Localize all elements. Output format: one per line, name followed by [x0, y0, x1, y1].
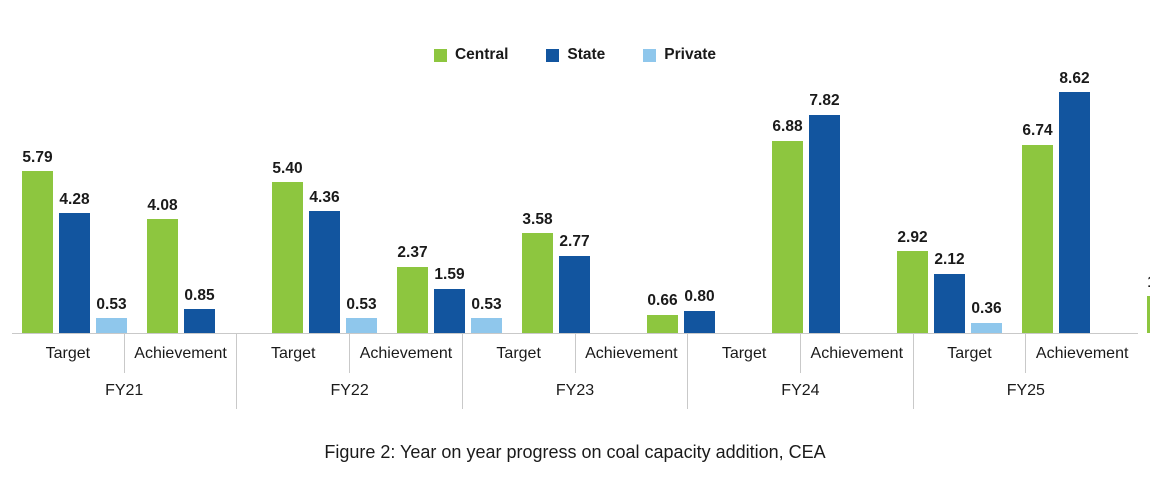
bar-state[interactable] [434, 289, 465, 333]
bar-slot-central: 6.74 [1022, 76, 1053, 333]
axis-group-fy21: TargetAchievementFY21 [12, 334, 237, 409]
bar-subgroup-fy22-achievement: 2.371.590.53 [387, 76, 512, 333]
bar-value-label: 4.36 [309, 190, 339, 206]
bar-value-label: 6.88 [772, 119, 802, 135]
bar-slot-state: 2.77 [559, 76, 590, 333]
axis-label-target: Target [237, 334, 350, 373]
bar-group-fy25: 6.748.621.323.150.06 [1012, 76, 1150, 333]
bar-subgroup-fy23-target: 3.582.77 [512, 76, 637, 333]
bar-group-fy22: 5.404.360.532.371.590.53 [262, 76, 512, 333]
plot-area: 5.794.280.534.080.855.404.360.532.371.59… [12, 76, 1138, 333]
bar-value-label: 0.36 [971, 301, 1001, 317]
bar-state[interactable] [184, 309, 215, 333]
bar-value-label: 5.40 [272, 161, 302, 177]
bar-state[interactable] [809, 115, 840, 333]
axis-label-achievement: Achievement [1026, 334, 1138, 373]
square-swatch-icon [546, 49, 559, 62]
axis-label-fiscal-year: FY24 [688, 373, 912, 409]
bar-slot-state: 1.59 [434, 76, 465, 333]
axis-label-target: Target [12, 334, 125, 373]
bar-state[interactable] [59, 213, 90, 333]
bar-slot-central: 2.37 [397, 76, 428, 333]
bar-state[interactable] [559, 256, 590, 333]
bar-private[interactable] [96, 318, 127, 333]
legend-label: Central [455, 47, 508, 63]
axis-group-fy24: TargetAchievementFY24 [688, 334, 913, 409]
bar-value-label: 2.12 [934, 252, 964, 268]
bar-state[interactable] [1059, 92, 1090, 333]
bar-central[interactable] [522, 233, 553, 333]
bar-slot-private: 0.36 [971, 76, 1002, 333]
bar-private[interactable] [971, 323, 1002, 333]
bar-subgroup-fy24-target: 6.887.82 [762, 76, 887, 333]
bar-slot-private [1096, 76, 1127, 333]
bar-slot-state: 4.36 [309, 76, 340, 333]
axis-group-fy22: TargetAchievementFY22 [237, 334, 462, 409]
bar-value-label: 2.92 [897, 230, 927, 246]
bar-groups: 5.794.280.534.080.855.404.360.532.371.59… [12, 76, 1138, 333]
bar-central[interactable] [22, 171, 53, 333]
legend-item-private: Private [643, 47, 716, 63]
bar-state[interactable] [934, 274, 965, 333]
bar-slot-central: 2.92 [897, 76, 928, 333]
bar-value-label: 0.53 [471, 297, 501, 313]
bar-value-label: 4.08 [147, 198, 177, 214]
legend-label: Private [664, 47, 716, 63]
axis-subgroup-labels: TargetAchievement [914, 334, 1138, 373]
axis-label-target: Target [688, 334, 801, 373]
axis-label-achievement: Achievement [125, 334, 237, 373]
bar-value-label: 8.62 [1059, 71, 1089, 87]
bar-value-label: 0.85 [184, 288, 214, 304]
axis-label-fiscal-year: FY21 [12, 373, 236, 409]
bar-central[interactable] [272, 182, 303, 333]
axis-group-fy25: TargetAchievementFY25 [914, 334, 1138, 409]
axis-subgroup-labels: TargetAchievement [688, 334, 912, 373]
bar-value-label: 3.58 [522, 212, 552, 228]
bar-slot-central: 3.58 [522, 76, 553, 333]
bar-subgroup-fy23-achievement: 0.660.80 [637, 76, 762, 333]
figure-caption: Figure 2: Year on year progress on coal … [0, 442, 1150, 463]
bar-value-label: 0.53 [96, 297, 126, 313]
axis-label-fiscal-year: FY25 [914, 373, 1138, 409]
bar-central[interactable] [897, 251, 928, 333]
bar-state[interactable] [309, 211, 340, 333]
bar-value-label: 6.74 [1022, 123, 1052, 139]
bar-value-label: 2.37 [397, 245, 427, 261]
bar-subgroup-fy21-achievement: 4.080.85 [137, 76, 262, 333]
bar-state[interactable] [684, 311, 715, 333]
chart-legend: CentralStatePrivate [0, 44, 1150, 66]
bar-central[interactable] [1022, 145, 1053, 333]
legend-item-central: Central [434, 47, 508, 63]
bar-value-label: 5.79 [22, 150, 52, 166]
bar-private[interactable] [346, 318, 377, 333]
x-axis: TargetAchievementFY21TargetAchievementFY… [12, 333, 1138, 409]
bar-value-label: 0.66 [647, 293, 677, 309]
bar-slot-private [721, 76, 752, 333]
bar-value-label: 4.28 [59, 192, 89, 208]
bar-subgroup-fy25-target: 6.748.62 [1012, 76, 1137, 333]
bar-value-label: 0.80 [684, 289, 714, 305]
bar-value-label: 0.53 [346, 297, 376, 313]
axis-label-fiscal-year: FY22 [237, 373, 461, 409]
bar-central[interactable] [397, 267, 428, 333]
axis-subgroup-labels: TargetAchievement [12, 334, 236, 373]
axis-label-target: Target [914, 334, 1027, 373]
bar-slot-state: 0.85 [184, 76, 215, 333]
legend-item-state: State [546, 47, 605, 63]
bar-slot-private: 0.53 [96, 76, 127, 333]
bar-subgroup-fy22-target: 5.404.360.53 [262, 76, 387, 333]
axis-label-achievement: Achievement [801, 334, 913, 373]
bar-slot-private [846, 76, 877, 333]
legend-label: State [567, 47, 605, 63]
bar-slot-state: 7.82 [809, 76, 840, 333]
bar-value-label: 1.59 [434, 267, 464, 283]
square-swatch-icon [434, 49, 447, 62]
axis-label-fiscal-year: FY23 [463, 373, 687, 409]
bar-slot-private [596, 76, 627, 333]
bar-slot-state: 2.12 [934, 76, 965, 333]
figure-container: CentralStatePrivate 5.794.280.534.080.85… [0, 0, 1150, 492]
square-swatch-icon [643, 49, 656, 62]
bar-group-fy23: 3.582.770.660.80 [512, 76, 762, 333]
bar-central[interactable] [147, 219, 178, 333]
bar-group-fy21: 5.794.280.534.080.85 [12, 76, 262, 333]
bar-slot-central: 4.08 [147, 76, 178, 333]
bar-slot-state: 8.62 [1059, 76, 1090, 333]
bar-slot-private: 0.53 [346, 76, 377, 333]
bar-group-fy24: 6.887.822.922.120.36 [762, 76, 1012, 333]
bar-slot-central: 5.79 [22, 76, 53, 333]
axis-group-fy23: TargetAchievementFY23 [463, 334, 688, 409]
bar-private[interactable] [471, 318, 502, 333]
bar-value-label: 7.82 [809, 93, 839, 109]
bar-slot-state: 0.80 [684, 76, 715, 333]
bar-slot-private [221, 76, 252, 333]
bar-central[interactable] [772, 141, 803, 333]
axis-label-achievement: Achievement [350, 334, 462, 373]
axis-label-target: Target [463, 334, 576, 373]
bar-central[interactable] [647, 315, 678, 333]
axis-subgroup-labels: TargetAchievement [237, 334, 461, 373]
axis-subgroup-labels: TargetAchievement [463, 334, 687, 373]
bar-value-label: 2.77 [559, 234, 589, 250]
bar-slot-central: 0.66 [647, 76, 678, 333]
bar-slot-central: 6.88 [772, 76, 803, 333]
axis-label-achievement: Achievement [576, 334, 688, 373]
bar-slot-state: 4.28 [59, 76, 90, 333]
bar-slot-private: 0.53 [471, 76, 502, 333]
bar-subgroup-fy21-target: 5.794.280.53 [12, 76, 137, 333]
bar-subgroup-fy25-achievement: 1.323.150.06 [1137, 76, 1150, 333]
bar-subgroup-fy24-achievement: 2.922.120.36 [887, 76, 1012, 333]
bar-slot-central: 5.40 [272, 76, 303, 333]
